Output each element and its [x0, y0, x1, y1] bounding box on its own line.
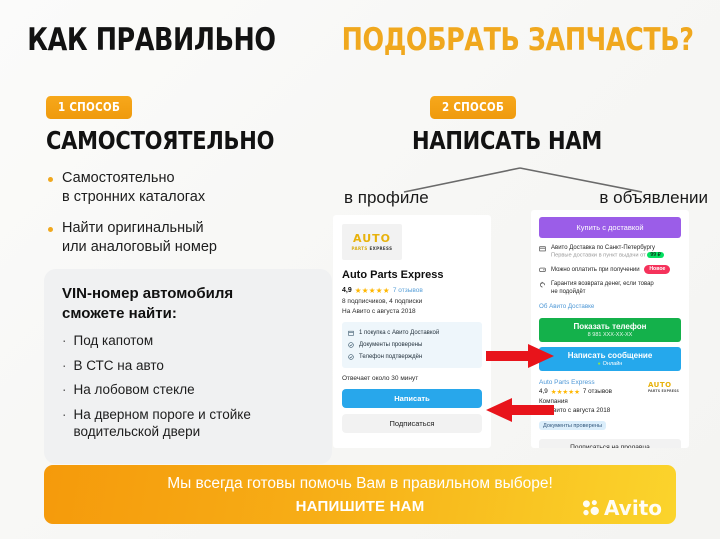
- seller-info-block: AUTO PARTS EXPRESS Auto Parts Express 4,…: [539, 379, 681, 432]
- shop-name: Auto Parts Express: [342, 269, 491, 281]
- pay-on-delivery-text: Можно оплатить при получении Новое: [551, 265, 670, 274]
- feature-text: Телефон подтверждён: [359, 354, 422, 360]
- list-item: · Под капотом: [62, 332, 316, 350]
- list-item: Самостоятельно в стронних каталогах: [48, 169, 344, 208]
- bullet-text: Найти оригинальный или аналоговый номер: [62, 219, 217, 258]
- footer-banner: Мы всегда готовы помочь Вам в правильном…: [44, 465, 676, 524]
- about-delivery-link[interactable]: Об Авито Доставке: [539, 303, 681, 310]
- follow-seller-button[interactable]: Подписаться на продавца: [539, 439, 681, 448]
- dash-icon: ·: [62, 357, 67, 375]
- page-title-part1: КАК ПРАВИЛЬНО: [27, 22, 275, 58]
- reviews-link[interactable]: 7 отзывов: [393, 287, 423, 294]
- seller-type: Компания: [539, 398, 681, 405]
- avito-logo-icon: [581, 498, 601, 518]
- seller-rating-value: 4,9: [539, 388, 548, 395]
- subscribe-button[interactable]: Подписаться: [342, 414, 482, 433]
- write-message-label: Написать сообщение: [568, 351, 653, 360]
- footer-line-2: НАПИШИТЕ НАМ: [296, 498, 425, 515]
- subheading-ad: в объявлении: [599, 188, 708, 208]
- rating-row: 4,9 ★★★★★ 7 отзывов: [342, 286, 491, 295]
- show-phone-button[interactable]: Показать телефон 8 981 XXX-XX-XX: [539, 318, 681, 342]
- dash-icon: ·: [62, 332, 67, 350]
- delivery-box-icon: [348, 330, 354, 336]
- feature-text: 1 покупка с Авито Доставкой: [359, 330, 439, 336]
- list-item: Найти оригинальный или аналоговый номер: [48, 219, 344, 258]
- delivery-city-text: Авито Доставка по Санкт-Петербургу: [551, 244, 664, 252]
- vin-item-text: На лобовом стекле: [74, 381, 195, 399]
- member-since: На Авито с августа 2018: [342, 308, 491, 315]
- seller-member-since: На Авито с августа 2018: [539, 407, 681, 414]
- arrow-left-icon: [484, 396, 556, 424]
- vin-item-text: На дверном пороге и стойке водительской …: [74, 406, 251, 441]
- money-back-text: Гарантия возврата денег, если товар не п…: [551, 280, 654, 296]
- list-item: · На дверном пороге и стойке водительско…: [62, 406, 316, 441]
- vin-item-text: Под капотом: [74, 332, 154, 350]
- profile-features-box: 1 покупка с Авито Доставкой Документы пр…: [342, 322, 482, 368]
- arrow-right-icon: [484, 342, 556, 370]
- list-item: Документы проверены: [348, 339, 476, 351]
- list-item: Авито Доставка по Санкт-Петербургу Первы…: [539, 244, 681, 259]
- method-two-title: НАПИСАТЬ НАМ: [412, 126, 602, 155]
- profile-screenshot-card: AUTO PARTS EXPRESS Auto Parts Express 4,…: [333, 215, 491, 448]
- delivery-price-text: Первые доставки в пункт выдачи от 99 ₽: [551, 252, 664, 259]
- vin-card-title: VIN-номер автомобиля сможете найти:: [62, 284, 316, 323]
- new-badge: Новое: [644, 265, 670, 274]
- star-rating-icon: ★★★★★: [355, 286, 390, 295]
- page-title-part2: ПОДОБРАТЬ ЗАПЧАСТЬ?: [342, 22, 694, 58]
- phone-number-masked: 8 981 XXX-XX-XX: [588, 332, 633, 338]
- method-two-badge: 2 СПОСОБ: [430, 96, 516, 119]
- dash-icon: ·: [62, 381, 67, 399]
- answer-time: Отвечает около 30 минут: [342, 375, 491, 382]
- dash-icon: ·: [62, 406, 67, 424]
- list-item: Телефон подтверждён: [348, 351, 476, 363]
- box-icon: [539, 245, 546, 252]
- wallet-icon: [539, 266, 546, 273]
- page-title: КАК ПРАВИЛЬНО ПОДОБРАТЬ ЗАПЧАСТЬ?: [0, 22, 720, 58]
- check-circle-icon: [348, 354, 354, 360]
- bullet-dot-icon: [48, 177, 53, 182]
- method-one-bullets: Самостоятельно в стронних каталогах Найт…: [48, 169, 344, 257]
- method-two-column: 2 СПОСОБ НАПИСАТЬ НАМ: [368, 96, 698, 155]
- method-one-column: 1 СПОСОБ САМОСТОЯТЕЛЬНО Самостоятельно в…: [44, 96, 344, 464]
- subheadings-row: в профиле в объявлении: [330, 188, 720, 208]
- online-status: Онлайн: [598, 361, 623, 367]
- bullet-text: Самостоятельно в стронних каталогах: [62, 169, 205, 208]
- list-item: Можно оплатить при получении Новое: [539, 265, 681, 274]
- price-badge: 99 ₽: [647, 252, 664, 258]
- show-phone-label: Показать телефон: [574, 322, 647, 331]
- rating-value: 4,9: [342, 287, 352, 294]
- method-one-title: САМОСТОЯТЕЛЬНО: [46, 126, 274, 155]
- footer-line-1: Мы всегда готовы помочь Вам в правильном…: [167, 474, 553, 493]
- list-item: · В СТС на авто: [62, 357, 316, 375]
- avito-wordmark: Avito: [604, 498, 662, 518]
- vin-item-text: В СТС на авто: [74, 357, 164, 375]
- subheading-profile: в профиле: [344, 188, 429, 208]
- list-item: Гарантия возврата денег, если товар не п…: [539, 280, 681, 296]
- avito-watermark: Avito: [581, 498, 662, 518]
- followers-count: 8 подписчиков, 4 подписки: [342, 298, 491, 305]
- check-circle-icon: [348, 342, 354, 348]
- seller-reviews: 7 отзывов: [583, 388, 612, 395]
- write-button[interactable]: Написать: [342, 389, 482, 408]
- shop-logo-sub: PARTS EXPRESS: [352, 246, 393, 251]
- star-rating-icon: ★★★★★: [551, 388, 580, 396]
- feature-text: Документы проверены: [359, 342, 422, 348]
- vin-info-card: VIN-номер автомобиля сможете найти: · По…: [44, 269, 332, 464]
- return-arrow-icon: [539, 281, 546, 288]
- buy-with-delivery-button[interactable]: Купить с доставкой: [539, 217, 681, 238]
- write-message-button[interactable]: Написать сообщение Онлайн: [539, 347, 681, 371]
- seller-logo: AUTO PARTS EXPRESS: [648, 381, 679, 393]
- shop-logo: AUTO PARTS EXPRESS: [342, 224, 402, 260]
- bullet-dot-icon: [48, 227, 53, 232]
- list-item: 1 покупка с Авито Доставкой: [348, 327, 476, 339]
- shop-logo-main: AUTO: [353, 233, 391, 244]
- method-one-badge: 1 СПОСОБ: [46, 96, 132, 119]
- list-item: · На лобовом стекле: [62, 381, 316, 399]
